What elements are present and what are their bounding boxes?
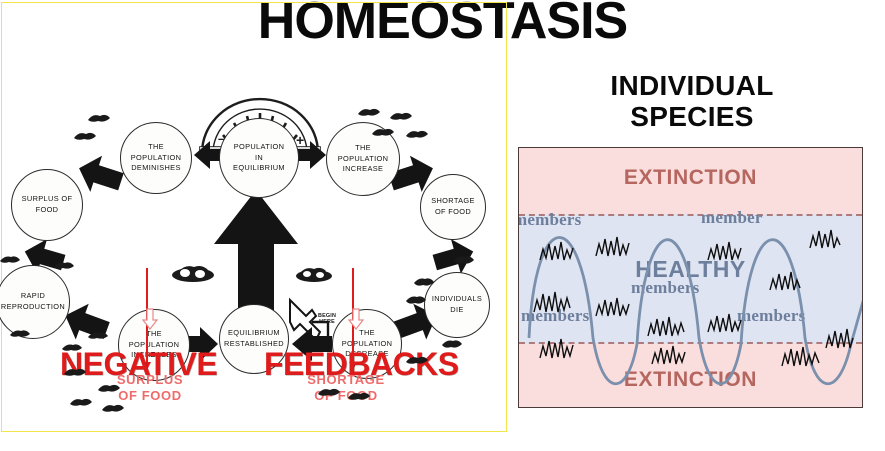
squiggle-wave-icon	[769, 270, 803, 292]
squiggle-wave-icon	[707, 240, 743, 262]
critter-icon	[8, 328, 32, 339]
node-line: EQUILIBRIUM	[224, 328, 284, 339]
node-line: DIE	[432, 305, 482, 316]
node-line: SHORTAGE	[431, 196, 475, 207]
hollow-down-arrow-right-icon	[348, 308, 364, 330]
node-line: INDIVIDUALS	[432, 294, 482, 305]
node-line: THE	[131, 142, 182, 153]
squiggle-wave-icon	[595, 234, 631, 258]
critter-icon	[412, 276, 436, 288]
node-shortage-of-food[interactable]: SHORTAGE OF FOOD	[420, 174, 486, 240]
critter-icon	[404, 294, 428, 306]
individual-species-chart-panel: EXTINCTION HEALTHY EXTINCTION members me…	[518, 147, 863, 408]
squiggle-wave-icon	[647, 314, 685, 338]
node-line: IN	[233, 153, 285, 164]
squiggle-wave-icon	[651, 344, 687, 366]
squiggle-wave-icon	[781, 344, 821, 368]
node-line: INCREASE	[338, 164, 389, 175]
critter-icon	[346, 390, 372, 402]
squiggle-wave-icon	[539, 240, 575, 262]
critter-icon	[96, 382, 122, 394]
critter-icon	[404, 128, 430, 140]
homeostasis-cycle-diagram: – + THE	[0, 96, 508, 432]
title-line-1: INDIVIDUAL	[520, 70, 864, 101]
pointing-hand-icon	[286, 294, 348, 346]
critter-icon	[86, 112, 112, 124]
critter-large-icon	[170, 264, 216, 284]
squiggle-wave-icon	[539, 336, 575, 360]
squiggle-wave-icon	[595, 296, 631, 318]
critter-icon	[404, 354, 430, 366]
critter-icon	[370, 126, 396, 138]
node-line: THE	[129, 329, 180, 340]
node-population-diminishes[interactable]: THE POPULATION DEMINISHES	[120, 122, 192, 194]
begin-here-label: BEGIN HERE	[318, 314, 336, 326]
critter-icon	[388, 110, 414, 122]
critter-large-icon	[294, 266, 334, 284]
critter-icon	[316, 386, 342, 398]
node-population-in-equilibrium[interactable]: POPULATION IN EQUILIBRIUM	[219, 118, 299, 198]
subtitle-line: SHORTAGE	[286, 372, 406, 388]
critter-icon	[52, 260, 76, 271]
node-line: REPRODUCTION	[1, 302, 65, 313]
begin-here-line: HERE	[318, 320, 336, 326]
title-line-2: SPECIES	[520, 101, 864, 132]
critter-icon	[72, 130, 98, 142]
node-line: EQUILIBRIUM	[233, 163, 285, 174]
critter-icon	[440, 338, 464, 350]
node-line: POPULATION	[233, 142, 285, 153]
node-line: FOOD	[22, 205, 73, 216]
node-line: THE	[338, 143, 389, 154]
squiggle-wave-icon	[825, 326, 855, 350]
critter-icon	[68, 396, 94, 408]
node-line: POPULATION	[338, 154, 389, 165]
squiggle-wave-icon	[809, 228, 841, 250]
critter-icon	[452, 254, 476, 266]
critter-icon	[0, 254, 22, 265]
critter-icon	[356, 106, 382, 118]
squiggle-wave-icon	[533, 288, 571, 314]
critter-icon	[62, 366, 88, 378]
population-oscillation-curve	[519, 148, 863, 408]
hollow-down-arrow-left-icon	[142, 308, 158, 330]
node-line: OF FOOD	[431, 207, 475, 218]
node-surplus-of-food[interactable]: SURPLUS OF FOOD	[11, 169, 83, 241]
critter-icon	[60, 342, 84, 353]
critter-icon	[100, 402, 126, 414]
squiggle-wave-icon	[707, 312, 743, 334]
critter-icon	[86, 330, 110, 341]
individual-species-title: INDIVIDUAL SPECIES	[520, 70, 864, 133]
node-line: DEMINISHES	[131, 163, 182, 174]
node-line: POPULATION	[131, 153, 182, 164]
node-line: RAPID	[1, 291, 65, 302]
node-line: SURPLUS OF	[22, 194, 73, 205]
